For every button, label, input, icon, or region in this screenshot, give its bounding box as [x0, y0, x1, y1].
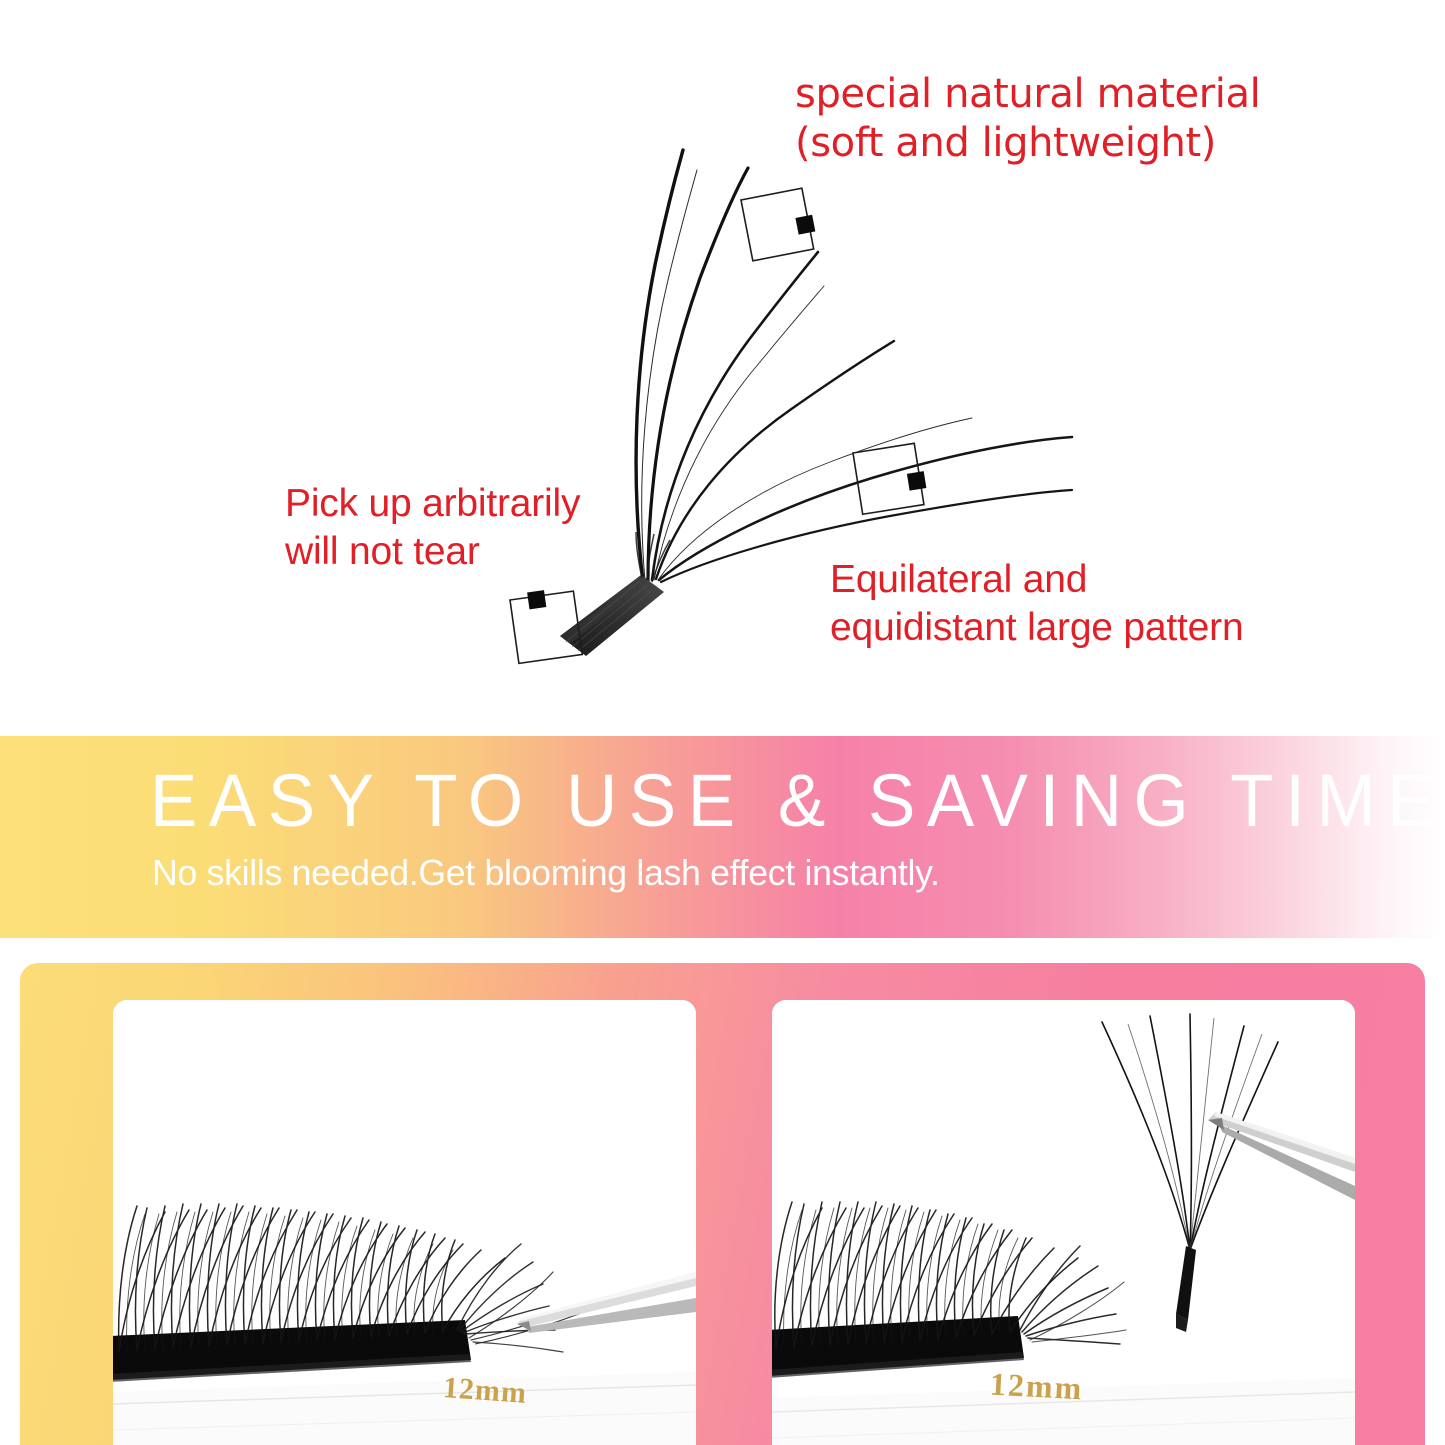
photo-card-lash-fan[interactable]: 12mm	[772, 1000, 1355, 1445]
feature-diagram-section: special natural material (soft and light…	[0, 0, 1445, 735]
square-marker-right	[853, 443, 929, 515]
square-marker-top	[741, 187, 819, 261]
callout-pattern-text: Equilateral and equidistant large patter…	[830, 556, 1243, 651]
banner-subtitle: No skills needed.Get blooming lash effec…	[152, 852, 940, 894]
photo-card-lash-tray[interactable]: 12mm	[113, 1000, 696, 1445]
gallery-gradient-panel: 12mm	[20, 963, 1425, 1445]
callout-material-text: special natural material (soft and light…	[795, 70, 1260, 168]
square-marker-base	[509, 586, 582, 663]
lash-fan-photo	[772, 1000, 1355, 1445]
callout-pickup-text: Pick up arbitrarily will not tear	[285, 480, 580, 575]
banner-headline: EASY TO USE & SAVING TIME	[150, 758, 1445, 843]
gallery-section: 12mm	[0, 938, 1445, 1445]
promo-banner: EASY TO USE & SAVING TIME No skills need…	[0, 736, 1445, 938]
lash-tray-photo	[113, 1000, 696, 1445]
